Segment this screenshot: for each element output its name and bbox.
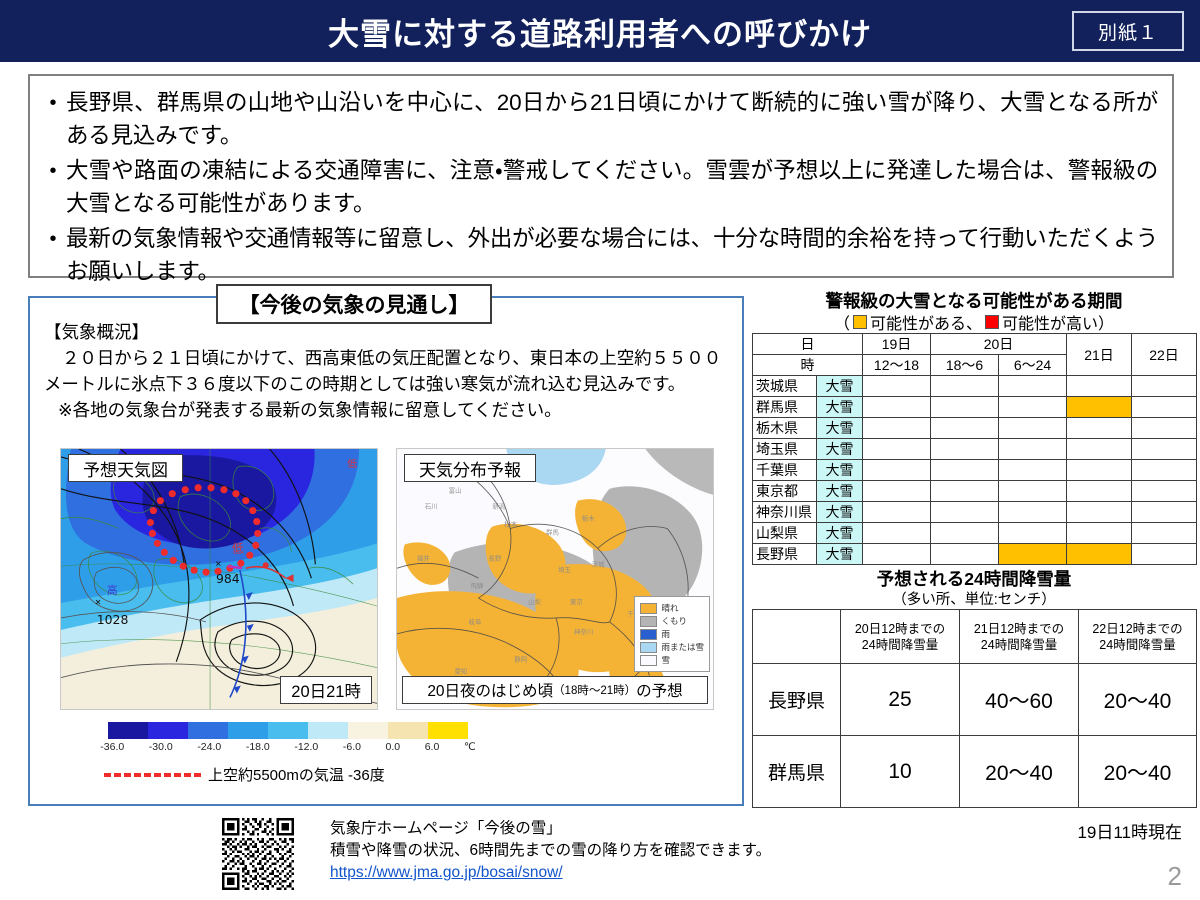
scale-tick-unit: ℃	[452, 741, 488, 753]
bullet-dot-icon: •	[40, 86, 66, 120]
surface-map-title: 予想天気図	[68, 454, 183, 482]
scale-tick: -36.0	[88, 741, 137, 753]
svg-text:低: 低	[347, 458, 357, 470]
scale-swatch	[228, 722, 268, 739]
svg-text:新潟: 新潟	[492, 502, 505, 511]
qr-code-icon[interactable]	[222, 818, 294, 890]
svg-text:石川: 石川	[425, 503, 438, 511]
warn-cell	[1067, 502, 1132, 523]
header-hour-18-6: 18～6	[931, 355, 999, 376]
warn-cell	[999, 523, 1067, 544]
legend-swatch-cloudy	[640, 616, 657, 627]
svg-text:茨城: 茨城	[592, 559, 605, 568]
pref-name: 長野県	[753, 544, 817, 565]
as-of-timestamp: 19日11時現在	[1077, 818, 1182, 843]
warn-cell	[1132, 481, 1197, 502]
distribution-map-title: 天気分布予報	[404, 454, 536, 482]
advisory-bullet-box: • 長野県、群馬県の山地や山沿いを中心に、20日から21日頃にかけて断続的に強い…	[28, 74, 1174, 278]
legend-label: 雪	[661, 654, 670, 666]
surface-chart-graphic: 低 ✕ 984 高 ✕ 1028 低	[61, 449, 377, 709]
temperature-color-scale: -36.0 -30.0 -24.0 -18.0 -12.0 -6.0 0.0 6…	[60, 722, 480, 785]
warn-cell	[999, 397, 1067, 418]
legend-swatch-sunny	[640, 603, 657, 614]
column-header-20: 20日12時までの 24時間降雪量	[841, 610, 960, 664]
warn-cell	[931, 418, 999, 439]
snow-value: 25	[841, 664, 960, 736]
distribution-time-sub: （18時～21時）	[553, 682, 636, 698]
svg-text:埼玉: 埼玉	[558, 565, 571, 574]
warning-period-table: 日 19日 20日 21日 22日 時 12～18 18～6 6～24 茨城県 …	[752, 333, 1197, 565]
legend-swatch-snow	[640, 655, 657, 666]
pref-name: 東京都	[753, 481, 817, 502]
legend-row: 雪	[640, 654, 704, 666]
table-row: 東京都 大雪	[753, 481, 1197, 502]
svg-text:群馬: 群馬	[546, 527, 559, 536]
legend-row: くもり	[640, 615, 704, 627]
warn-cell	[863, 418, 931, 439]
warn-cell	[1067, 523, 1132, 544]
svg-text:岐阜: 岐阜	[469, 617, 482, 626]
table-row: 神奈川県 大雪	[753, 502, 1197, 523]
warn-cell	[863, 502, 931, 523]
col-header-line1: 21日12時までの	[974, 622, 1064, 636]
overview-note: ※各地の気象台が発表する最新の気象情報に留意してください。	[44, 397, 726, 423]
table-row: 群馬県 10 20～40 20～40	[753, 736, 1197, 808]
pref-name: 長野県	[753, 664, 841, 736]
pref-tag: 大雪	[817, 439, 863, 460]
footer-text-block: 気象庁ホームページ「今後の雪」 積雪や降雪の状況、6時間先までの雪の降り方を確認…	[330, 818, 930, 884]
scale-swatch	[348, 722, 388, 739]
warn-cell	[1132, 376, 1197, 397]
footer-line-2: 積雪や降雪の状況、6時間先までの雪の降り方を確認できます。	[330, 840, 930, 862]
warn-cell	[999, 481, 1067, 502]
svg-text:長野: 長野	[488, 554, 501, 562]
warn-cell	[931, 481, 999, 502]
legend-row: 雨	[640, 628, 704, 640]
warn-cell	[999, 418, 1067, 439]
col-header-line1: 22日12時までの	[1092, 622, 1182, 636]
pref-name: 神奈川県	[753, 502, 817, 523]
bullet-item: • 最新の気象情報や交通情報等に留意し、外出が必要な場合には、十分な時間的余裕を…	[40, 222, 1158, 288]
warn-cell	[1067, 481, 1132, 502]
bullet-text: 大雪や路面の凍結による交通障害に、注意・警戒してください。雪雲が予想以上に発達し…	[66, 154, 1158, 220]
warn-cell	[1067, 439, 1132, 460]
column-header-21: 21日12時までの 24時間降雪量	[960, 610, 1079, 664]
scale-swatch	[308, 722, 348, 739]
surface-map-canvas: 低 ✕ 984 高 ✕ 1028 低	[60, 448, 378, 710]
jma-snow-link[interactable]: https://www.jma.go.jp/bosai/snow/	[330, 862, 563, 884]
pref-name: 茨城県	[753, 376, 817, 397]
table-header-row: 20日12時までの 24時間降雪量 21日12時までの 24時間降雪量 22日1…	[753, 610, 1197, 664]
slide-page: 大雪に対する道路利用者への呼びかけ 別紙１ • 長野県、群馬県の山地や山沿いを中…	[0, 0, 1200, 900]
legend-swatch-rain-or-snow	[640, 642, 657, 653]
page-number: 2	[1168, 861, 1182, 892]
pref-tag: 大雪	[817, 502, 863, 523]
warn-cell	[863, 397, 931, 418]
pref-tag: 大雪	[817, 418, 863, 439]
distribution-map-time: 20日夜のはじめ頃 （18時～21時） の予想	[402, 676, 708, 704]
subtitle-open-paren: （	[834, 310, 850, 334]
surface-forecast-map[interactable]: 低 ✕ 984 高 ✕ 1028 低 予想天気図 20日21時	[60, 448, 378, 710]
svg-text:松本: 松本	[504, 520, 517, 529]
bullet-item: • 大雪や路面の凍結による交通障害に、注意・警戒してください。雪雲が予想以上に発…	[40, 154, 1158, 220]
warn-cell	[1132, 397, 1197, 418]
warn-cell	[863, 460, 931, 481]
warn-cell-highlight	[1067, 397, 1132, 418]
warn-cell	[1132, 460, 1197, 481]
scale-swatch	[428, 722, 468, 739]
legend-label: 雨	[661, 628, 670, 640]
warn-cell-highlight	[999, 544, 1067, 565]
snow-value: 20～40	[1079, 736, 1197, 808]
pref-tag: 大雪	[817, 376, 863, 397]
warn-cell	[931, 544, 999, 565]
svg-text:✕: ✕	[95, 598, 102, 607]
pref-name: 栃木県	[753, 418, 817, 439]
warn-cell	[999, 460, 1067, 481]
scale-tick: -6.0	[331, 741, 374, 753]
warn-cell	[931, 376, 999, 397]
legend-swatch-likely	[985, 315, 999, 329]
svg-text:富山: 富山	[449, 486, 462, 495]
warn-cell	[863, 544, 931, 565]
header-day-20: 20日	[931, 334, 1067, 355]
col-header-line1: 20日12時までの	[855, 622, 945, 636]
header-hour-12-18: 12～18	[863, 355, 931, 376]
pref-name: 千葉県	[753, 460, 817, 481]
warn-cell	[1067, 418, 1132, 439]
warn-cell-highlight	[1067, 544, 1132, 565]
warn-cell	[1132, 523, 1197, 544]
warn-cell	[1132, 544, 1197, 565]
column-header-22: 22日12時までの 24時間降雪量	[1079, 610, 1197, 664]
color-scale-ticks: -36.0 -30.0 -24.0 -18.0 -12.0 -6.0 0.0 6…	[88, 741, 488, 753]
scale-swatch	[108, 722, 148, 739]
header-day-21: 21日	[1067, 334, 1132, 376]
svg-text:東京: 東京	[570, 597, 583, 606]
warn-cell	[1067, 376, 1132, 397]
header-hour-6-24: 6～24	[999, 355, 1067, 376]
snow-value: 20～40	[960, 736, 1079, 808]
legend-swatch-rain	[640, 629, 657, 640]
page-title: 大雪に対する道路利用者への呼びかけ	[0, 0, 1200, 62]
warn-cell	[1067, 460, 1132, 481]
warn-cell	[999, 502, 1067, 523]
pref-tag: 大雪	[817, 397, 863, 418]
table-row: 埼玉県 大雪	[753, 439, 1197, 460]
legend-label: 晴れ	[661, 602, 678, 614]
col-header-line2: 24時間降雪量	[1099, 638, 1175, 652]
table-row: 群馬県 大雪	[753, 397, 1197, 418]
header-day-22: 22日	[1132, 334, 1197, 376]
svg-text:984: 984	[216, 571, 240, 586]
pref-tag: 大雪	[817, 481, 863, 502]
distribution-map-legend: 晴れ くもり 雨 雨または雪	[634, 596, 710, 672]
scale-tick: -12.0	[282, 741, 331, 753]
bullet-dot-icon: •	[40, 154, 66, 188]
snow-value: 40～60	[960, 664, 1079, 736]
warn-cell	[863, 376, 931, 397]
distribution-time-main: 20日夜のはじめ頃	[427, 679, 553, 701]
header-hour-label: 時	[753, 355, 863, 376]
warn-cell	[863, 523, 931, 544]
subtitle-likely-label: 可能性が高い）	[1002, 310, 1114, 334]
svg-text:飛騨: 飛騨	[471, 581, 484, 590]
subtitle-possible-label: 可能性がある、	[870, 310, 982, 334]
table-header-row-day: 日 19日 20日 21日 22日	[753, 334, 1197, 355]
snowfall-forecast-table: 20日12時までの 24時間降雪量 21日12時までの 24時間降雪量 22日1…	[752, 609, 1197, 808]
warn-cell	[999, 439, 1067, 460]
legend-swatch-possible	[853, 315, 867, 329]
pref-name: 山梨県	[753, 523, 817, 544]
svg-text:高: 高	[107, 583, 118, 597]
scale-swatch	[388, 722, 428, 739]
header-day-19: 19日	[863, 334, 931, 355]
pref-tag: 大雪	[817, 544, 863, 565]
svg-text:山梨: 山梨	[528, 597, 541, 606]
bullet-text: 長野県、群馬県の山地や山沿いを中心に、20日から21日頃にかけて断続的に強い雪が…	[66, 86, 1158, 152]
warn-cell	[931, 397, 999, 418]
red-dashed-line-icon	[104, 773, 204, 777]
scale-tick: -24.0	[185, 741, 234, 753]
snowfall-table-subtitle: （多い所、単位:センチ）	[752, 588, 1196, 609]
title-bar: 大雪に対する道路利用者への呼びかけ 別紙１	[0, 0, 1200, 62]
scale-swatch	[148, 722, 188, 739]
table-row: 長野県 25 40～60 20～40	[753, 664, 1197, 736]
warn-cell	[863, 481, 931, 502]
snow-value: 10	[841, 736, 960, 808]
color-scale-bar	[108, 722, 468, 739]
svg-text:福井: 福井	[417, 553, 430, 562]
legend-row: 晴れ	[640, 602, 704, 614]
scale-tick: 6.0	[412, 741, 451, 753]
svg-text:低: 低	[232, 541, 244, 555]
legend-label: 雨または雪	[661, 641, 704, 653]
warn-cell	[1132, 439, 1197, 460]
warn-cell	[931, 439, 999, 460]
pref-name: 群馬県	[753, 736, 841, 808]
cold-air-note: 上空約5500mの気温 -36度	[104, 764, 480, 785]
cold-air-note-text: 上空約5500mの気温 -36度	[208, 764, 385, 785]
bullet-item: • 長野県、群馬県の山地や山沿いを中心に、20日から21日頃にかけて断続的に強い…	[40, 86, 1158, 152]
table-row: 茨城県 大雪	[753, 376, 1197, 397]
distribution-time-suffix: の予想	[636, 679, 683, 701]
warn-cell	[863, 439, 931, 460]
table-row: 栃木県 大雪	[753, 418, 1197, 439]
table-row: 長野県 大雪	[753, 544, 1197, 565]
weather-outlook-panel: 【気象概況】 ２０日から２１日頃にかけて、西高東低の気圧配置となり、東日本の上空…	[28, 296, 744, 806]
pref-tag: 大雪	[817, 523, 863, 544]
bullet-dot-icon: •	[40, 222, 66, 256]
overview-body: ２０日から２１日頃にかけて、西高東低の気圧配置となり、東日本の上空約５５００メー…	[44, 345, 726, 397]
col-header-line2: 24時間降雪量	[862, 638, 938, 652]
scale-tick: 0.0	[373, 741, 412, 753]
scale-swatch	[188, 722, 228, 739]
svg-text:✕: ✕	[215, 559, 222, 568]
legend-row: 雨または雪	[640, 641, 704, 653]
corner-cell	[753, 610, 841, 664]
bullet-text: 最新の気象情報や交通情報等に留意し、外出が必要な場合には、十分な時間的余裕を持っ…	[66, 222, 1158, 288]
svg-text:神奈川: 神奈川	[574, 627, 593, 636]
svg-text:1028: 1028	[97, 612, 129, 627]
scale-tick: -18.0	[234, 741, 283, 753]
warn-cell	[999, 376, 1067, 397]
outlook-panel-title: 【今後の気象の見通し】	[216, 284, 492, 324]
warn-cell	[1132, 502, 1197, 523]
attachment-badge: 別紙１	[1072, 11, 1184, 51]
pref-name: 埼玉県	[753, 439, 817, 460]
warning-table-subtitle: （ 可能性がある、 可能性が高い）	[752, 310, 1196, 334]
pref-name: 群馬県	[753, 397, 817, 418]
legend-label: くもり	[661, 615, 687, 627]
warn-cell	[1132, 418, 1197, 439]
svg-text:愛知: 愛知	[455, 667, 468, 676]
footer-line-1: 気象庁ホームページ「今後の雪」	[330, 818, 930, 840]
snow-value: 20～40	[1079, 664, 1197, 736]
warn-cell	[931, 523, 999, 544]
table-row: 山梨県 大雪	[753, 523, 1197, 544]
scale-swatch	[268, 722, 308, 739]
table-row: 千葉県 大雪	[753, 460, 1197, 481]
surface-map-time: 20日21時	[280, 676, 372, 704]
warn-cell	[931, 460, 999, 481]
weather-distribution-map[interactable]: 石川富山 福井新潟 長野群馬 栃木茨城 埼玉山梨 東京神奈川 千葉岐阜 愛知静岡…	[396, 448, 714, 710]
pref-tag: 大雪	[817, 460, 863, 481]
col-header-line2: 24時間降雪量	[981, 638, 1057, 652]
scale-tick: -30.0	[137, 741, 186, 753]
header-day-label: 日	[753, 334, 863, 355]
warn-cell	[931, 502, 999, 523]
svg-text:静岡: 静岡	[514, 655, 527, 664]
svg-text:栃木: 栃木	[582, 514, 595, 523]
